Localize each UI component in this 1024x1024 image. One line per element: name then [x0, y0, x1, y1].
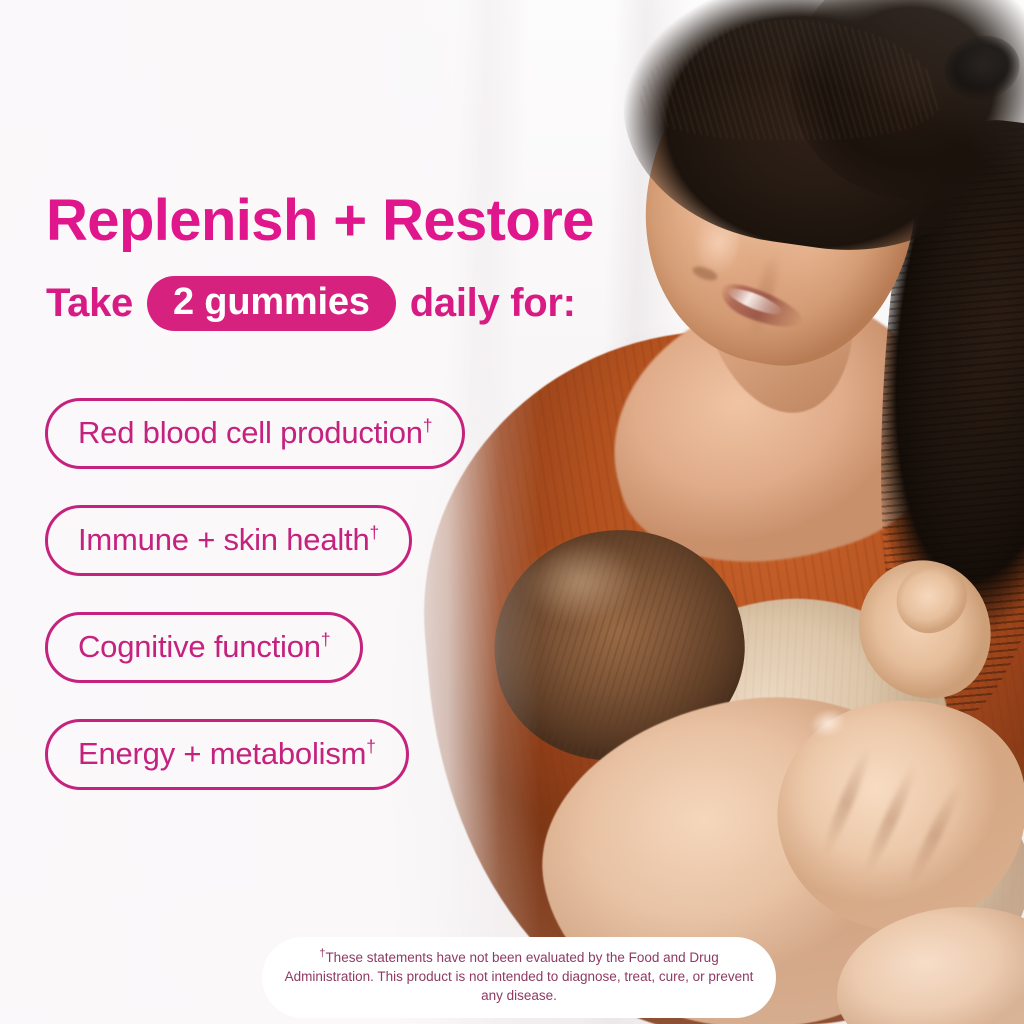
dosage-amount-badge: 2 gummies — [147, 276, 396, 331]
benefit-pill: Immune + skin health† — [45, 505, 412, 576]
dosage-suffix: daily for: — [410, 281, 576, 326]
benefit-pill: Red blood cell production† — [45, 398, 465, 469]
benefits-list: Red blood cell production† Immune + skin… — [45, 398, 465, 790]
promo-graphic: Replenish + Restore Take 2 gummies daily… — [0, 0, 1024, 1024]
fda-disclaimer: †These statements have not been evaluate… — [262, 937, 776, 1018]
marketing-copy: Replenish + Restore Take 2 gummies daily… — [0, 0, 1024, 1024]
disclaimer-line-2: This product is not intended to diagnose… — [377, 969, 753, 1003]
dosage-instruction: Take 2 gummies daily for: — [46, 276, 576, 331]
benefit-pill: Cognitive function† — [45, 612, 363, 683]
footnote-marker-icon: † — [370, 523, 379, 543]
benefit-label: Red blood cell production — [78, 415, 423, 450]
dosage-prefix: Take — [46, 281, 133, 326]
benefit-label: Cognitive function — [78, 629, 321, 664]
benefit-pill: Energy + metabolism† — [45, 719, 409, 790]
footnote-marker-icon: † — [321, 630, 330, 650]
benefit-label: Energy + metabolism — [78, 736, 366, 771]
headline: Replenish + Restore — [46, 192, 594, 250]
benefit-label: Immune + skin health — [78, 522, 370, 557]
footnote-marker-icon: † — [423, 416, 432, 436]
footnote-marker-icon: † — [366, 737, 375, 757]
